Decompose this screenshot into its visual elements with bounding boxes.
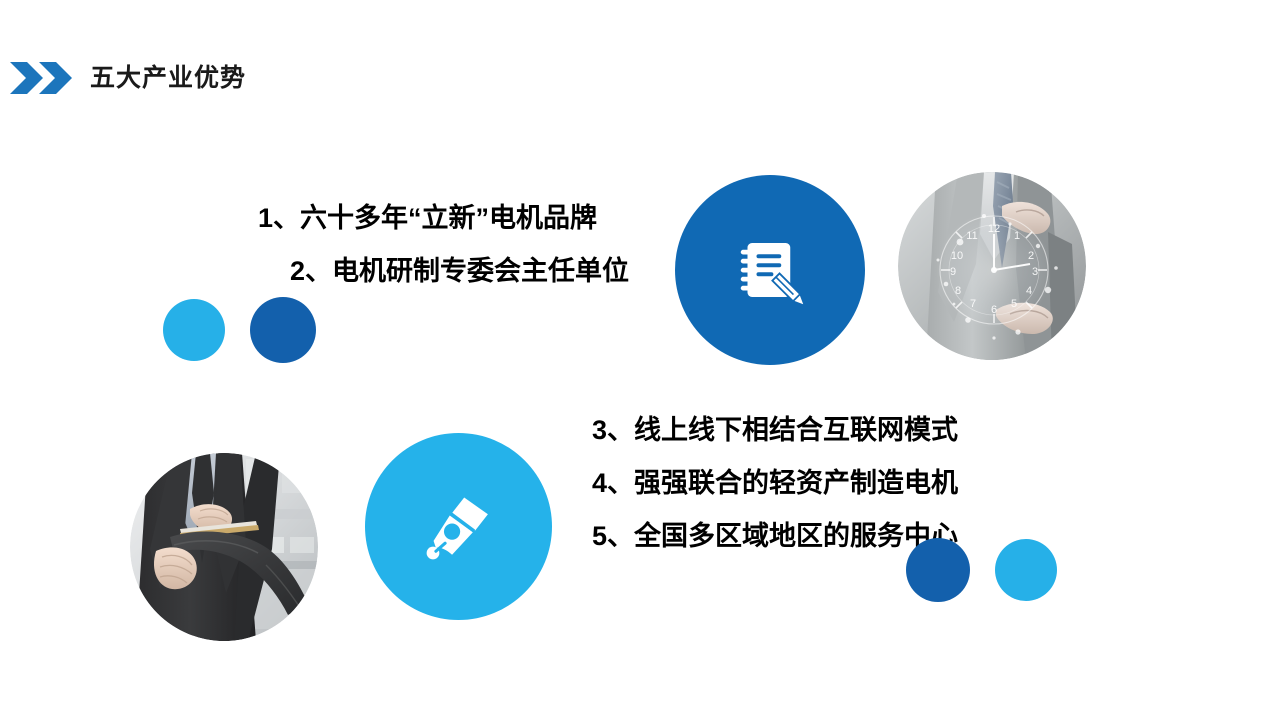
slide-header: 五大产业优势 (0, 55, 246, 101)
dot-dark-blue-left (250, 297, 316, 363)
advantages-list-top: 1、六十多年“立新”电机品牌 2、电机研制专委会主任单位 (258, 192, 629, 298)
svg-text:7: 7 (970, 298, 976, 310)
double-chevron-right-icon (10, 62, 73, 94)
slide-canvas: 五大产业优势 1、六十多年“立新”电机品牌 2、电机研制专委会主任单位 3、线上… (0, 0, 1280, 720)
pen-nib-icon (422, 490, 496, 564)
list-item: 2、电机研制专委会主任单位 (258, 245, 629, 298)
dot-light-blue-left (163, 299, 225, 361)
advantages-list-bottom: 3、线上线下相结合互联网模式 4、强强联合的轻资产制造电机 5、全国多区域地区的… (592, 404, 958, 563)
notepad-icon-circle (675, 175, 865, 365)
list-item: 5、全国多区域地区的服务中心 (592, 510, 958, 563)
businessman-holding-clock-photo: 12 1 2 3 4 5 6 7 8 9 10 11 (898, 172, 1086, 360)
svg-text:10: 10 (951, 250, 963, 262)
list-item: 1、六十多年“立新”电机品牌 (258, 192, 629, 245)
svg-text:6: 6 (991, 304, 997, 316)
svg-text:12: 12 (988, 223, 1000, 235)
svg-text:1: 1 (1014, 230, 1020, 242)
svg-text:3: 3 (1032, 266, 1038, 278)
pen-icon-circle (365, 433, 552, 620)
svg-text:5: 5 (1011, 298, 1017, 310)
notepad-pencil-icon (734, 234, 806, 306)
page-title: 五大产业优势 (90, 66, 246, 91)
svg-text:4: 4 (1026, 285, 1032, 297)
svg-text:9: 9 (950, 266, 956, 278)
svg-text:2: 2 (1028, 250, 1034, 262)
svg-text:8: 8 (955, 285, 961, 297)
list-item: 3、线上线下相结合互联网模式 (592, 404, 958, 457)
dot-light-blue-right (995, 539, 1057, 601)
list-item: 4、强强联合的轻资产制造电机 (592, 457, 958, 510)
dot-dark-blue-right (906, 538, 970, 602)
svg-text:11: 11 (966, 230, 977, 242)
businessman-reading-folder-photo (130, 453, 318, 641)
